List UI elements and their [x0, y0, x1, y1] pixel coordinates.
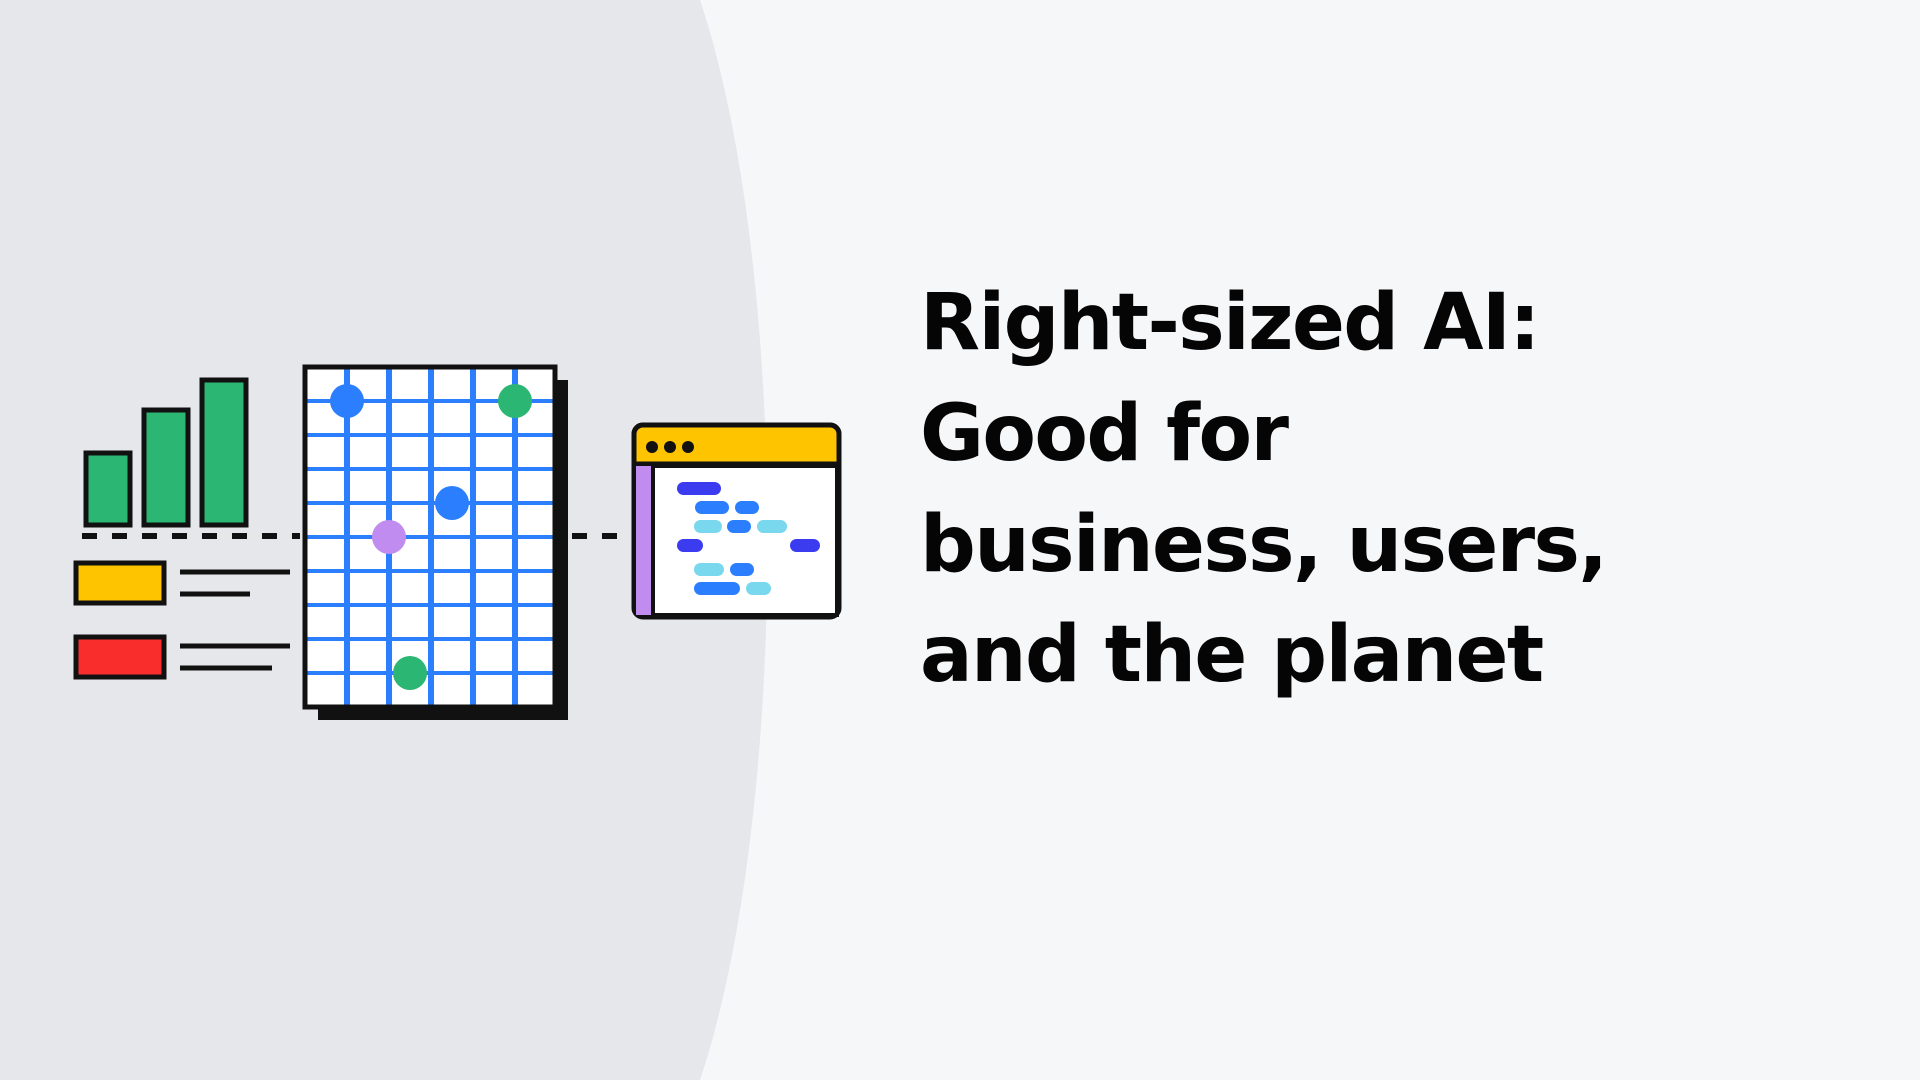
- yellow-swatch: [76, 563, 164, 603]
- page-title: Right-sized AI: Good for business, users…: [920, 268, 1780, 711]
- code-token: [735, 501, 759, 514]
- point-purple-1: [372, 520, 406, 554]
- code-token: [677, 539, 703, 552]
- hero-banner: Right-sized AI: Good for business, users…: [0, 0, 1920, 1080]
- bar-2: [144, 410, 188, 525]
- code-token: [790, 539, 820, 552]
- code-token: [694, 563, 724, 576]
- window-dot-minimize-icon[interactable]: [664, 441, 676, 453]
- headline-block: Right-sized AI: Good for business, users…: [920, 268, 1780, 711]
- point-blue-1: [330, 384, 364, 418]
- status-legend: [76, 563, 290, 677]
- code-token: [695, 501, 729, 514]
- window-dot-maximize-icon[interactable]: [682, 441, 694, 453]
- bar-3: [202, 380, 246, 525]
- window-sidebar[interactable]: [636, 466, 653, 615]
- code-token: [746, 582, 771, 595]
- code-token: [757, 520, 787, 533]
- code-editor-window: [634, 425, 839, 617]
- growth-bar-chart: [82, 380, 278, 536]
- code-token: [730, 563, 754, 576]
- code-token: [727, 520, 751, 533]
- code-token: [694, 520, 722, 533]
- point-green-1: [498, 384, 532, 418]
- point-blue-2: [435, 486, 469, 520]
- window-dot-close-icon[interactable]: [646, 441, 658, 453]
- bar-1: [86, 453, 130, 525]
- code-token: [694, 582, 740, 595]
- red-swatch: [76, 637, 164, 677]
- scatter-plot-grid: [305, 367, 568, 720]
- code-token: [677, 482, 721, 495]
- hero-illustration: [0, 0, 920, 1080]
- point-green-2: [393, 656, 427, 690]
